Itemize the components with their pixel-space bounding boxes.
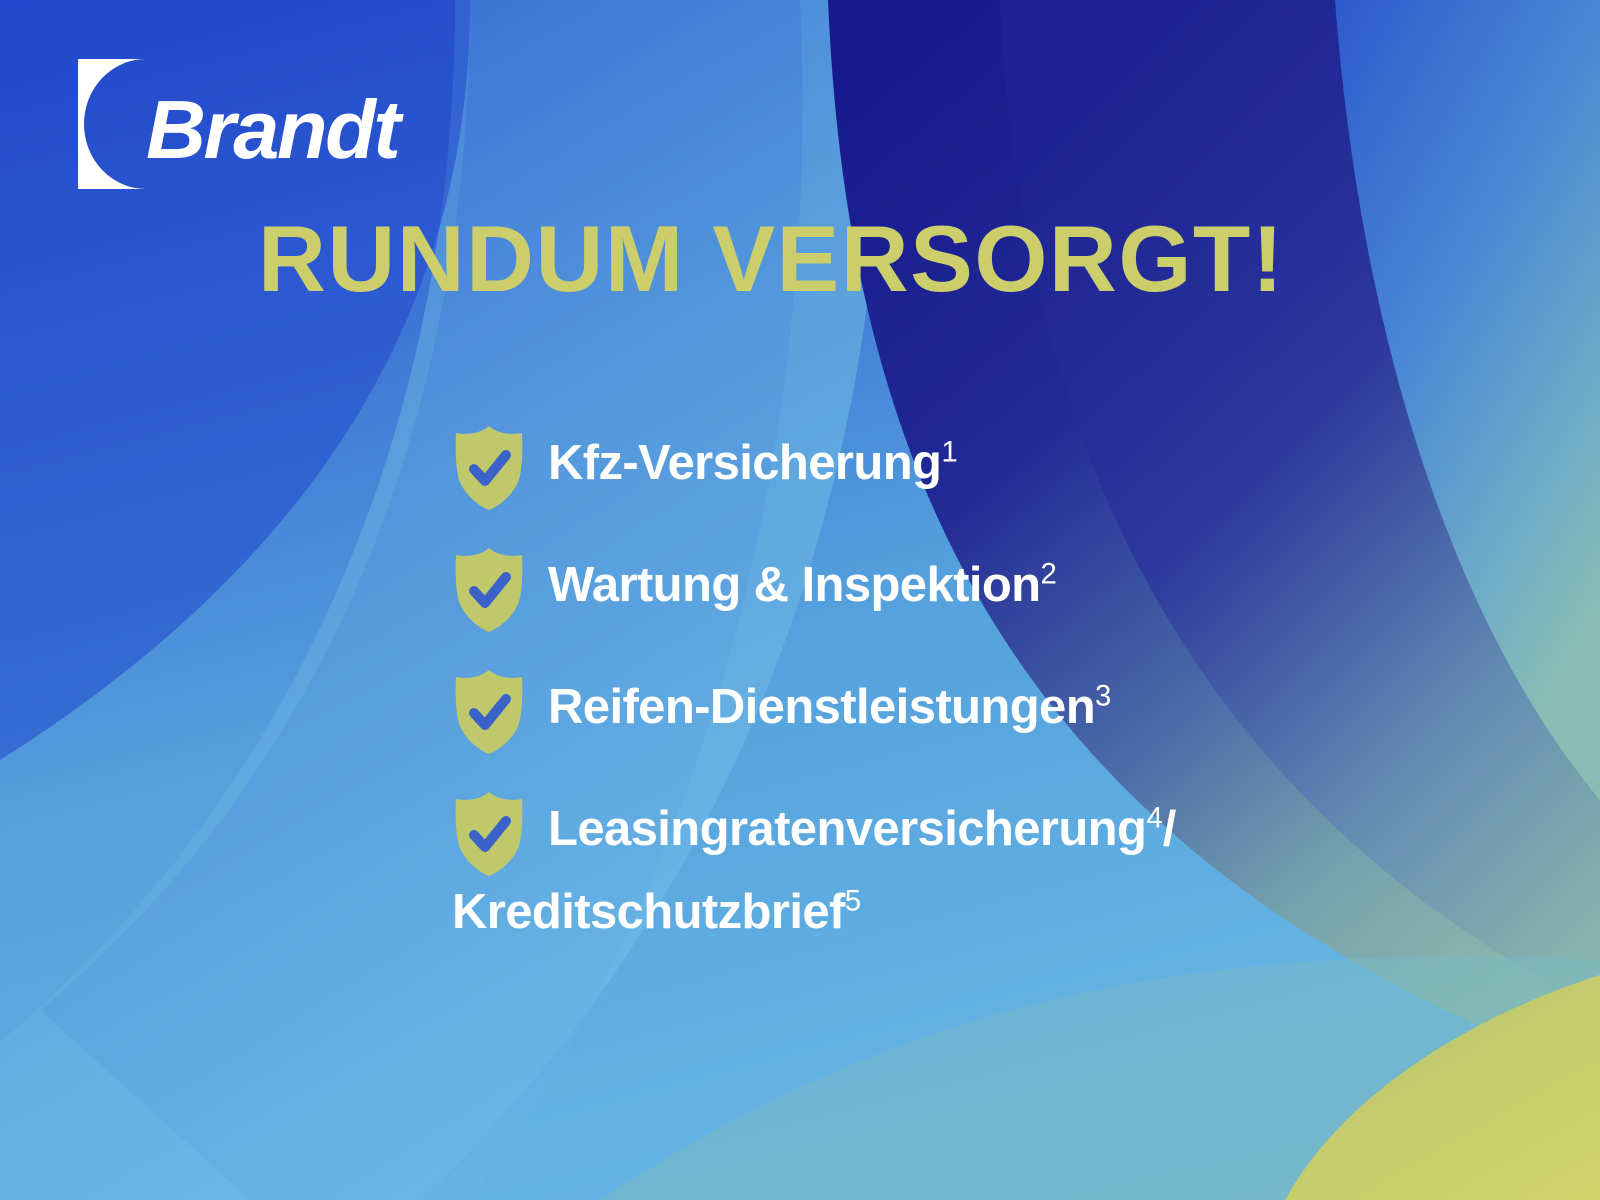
brand-logo: Brandt (78, 58, 398, 190)
promo-graphic: Brandt RUNDUM VERSORGT! Kfz-Versicherung… (0, 0, 1600, 1200)
benefit-footnote: 1 (941, 436, 957, 469)
benefit-label-text: Reifen-Dienstleistungen (548, 680, 1095, 734)
benefit-label-text: Leasingratenversicherung (548, 802, 1146, 856)
list-item: Leasingratenversicherung4/ Kreditschutzb… (452, 784, 1512, 953)
list-item: Kfz-Versicherung1 (452, 418, 1512, 540)
page-title: RUNDUM VERSORGT! (258, 212, 1285, 306)
benefit-label-text: Kfz-Versicherung (548, 436, 941, 490)
shield-check-icon (452, 790, 526, 878)
brand-wordmark: Brandt (146, 88, 398, 171)
brandt-bracket-mark-icon (78, 59, 146, 189)
benefit-footnote-2: 5 (845, 885, 861, 918)
shield-check-icon (452, 546, 526, 634)
shield-check-icon (452, 668, 526, 756)
benefit-label: Leasingratenversicherung4/ Kreditschutzb… (548, 784, 1512, 953)
list-item: Wartung & Inspektion2 (452, 540, 1512, 662)
benefit-footnote: 4 (1146, 802, 1162, 835)
benefit-label: Reifen-Dienstleistungen3 (548, 662, 1512, 747)
benefits-list: Kfz-Versicherung1 Wartung & Inspektion2 (452, 418, 1512, 953)
benefit-label-line2: Kreditschutzbrief5 (452, 873, 1512, 952)
benefit-label: Kfz-Versicherung1 (548, 418, 1512, 503)
benefit-separator: / (1163, 802, 1176, 856)
shield-check-icon (452, 424, 526, 512)
list-item: Reifen-Dienstleistungen3 (452, 662, 1512, 784)
benefit-label-text: Wartung & Inspektion (548, 558, 1041, 612)
benefit-footnote: 2 (1041, 558, 1057, 591)
benefit-footnote: 3 (1095, 680, 1111, 713)
benefit-label: Wartung & Inspektion2 (548, 540, 1512, 625)
benefit-label-text-2: Kreditschutzbrief (452, 885, 845, 939)
